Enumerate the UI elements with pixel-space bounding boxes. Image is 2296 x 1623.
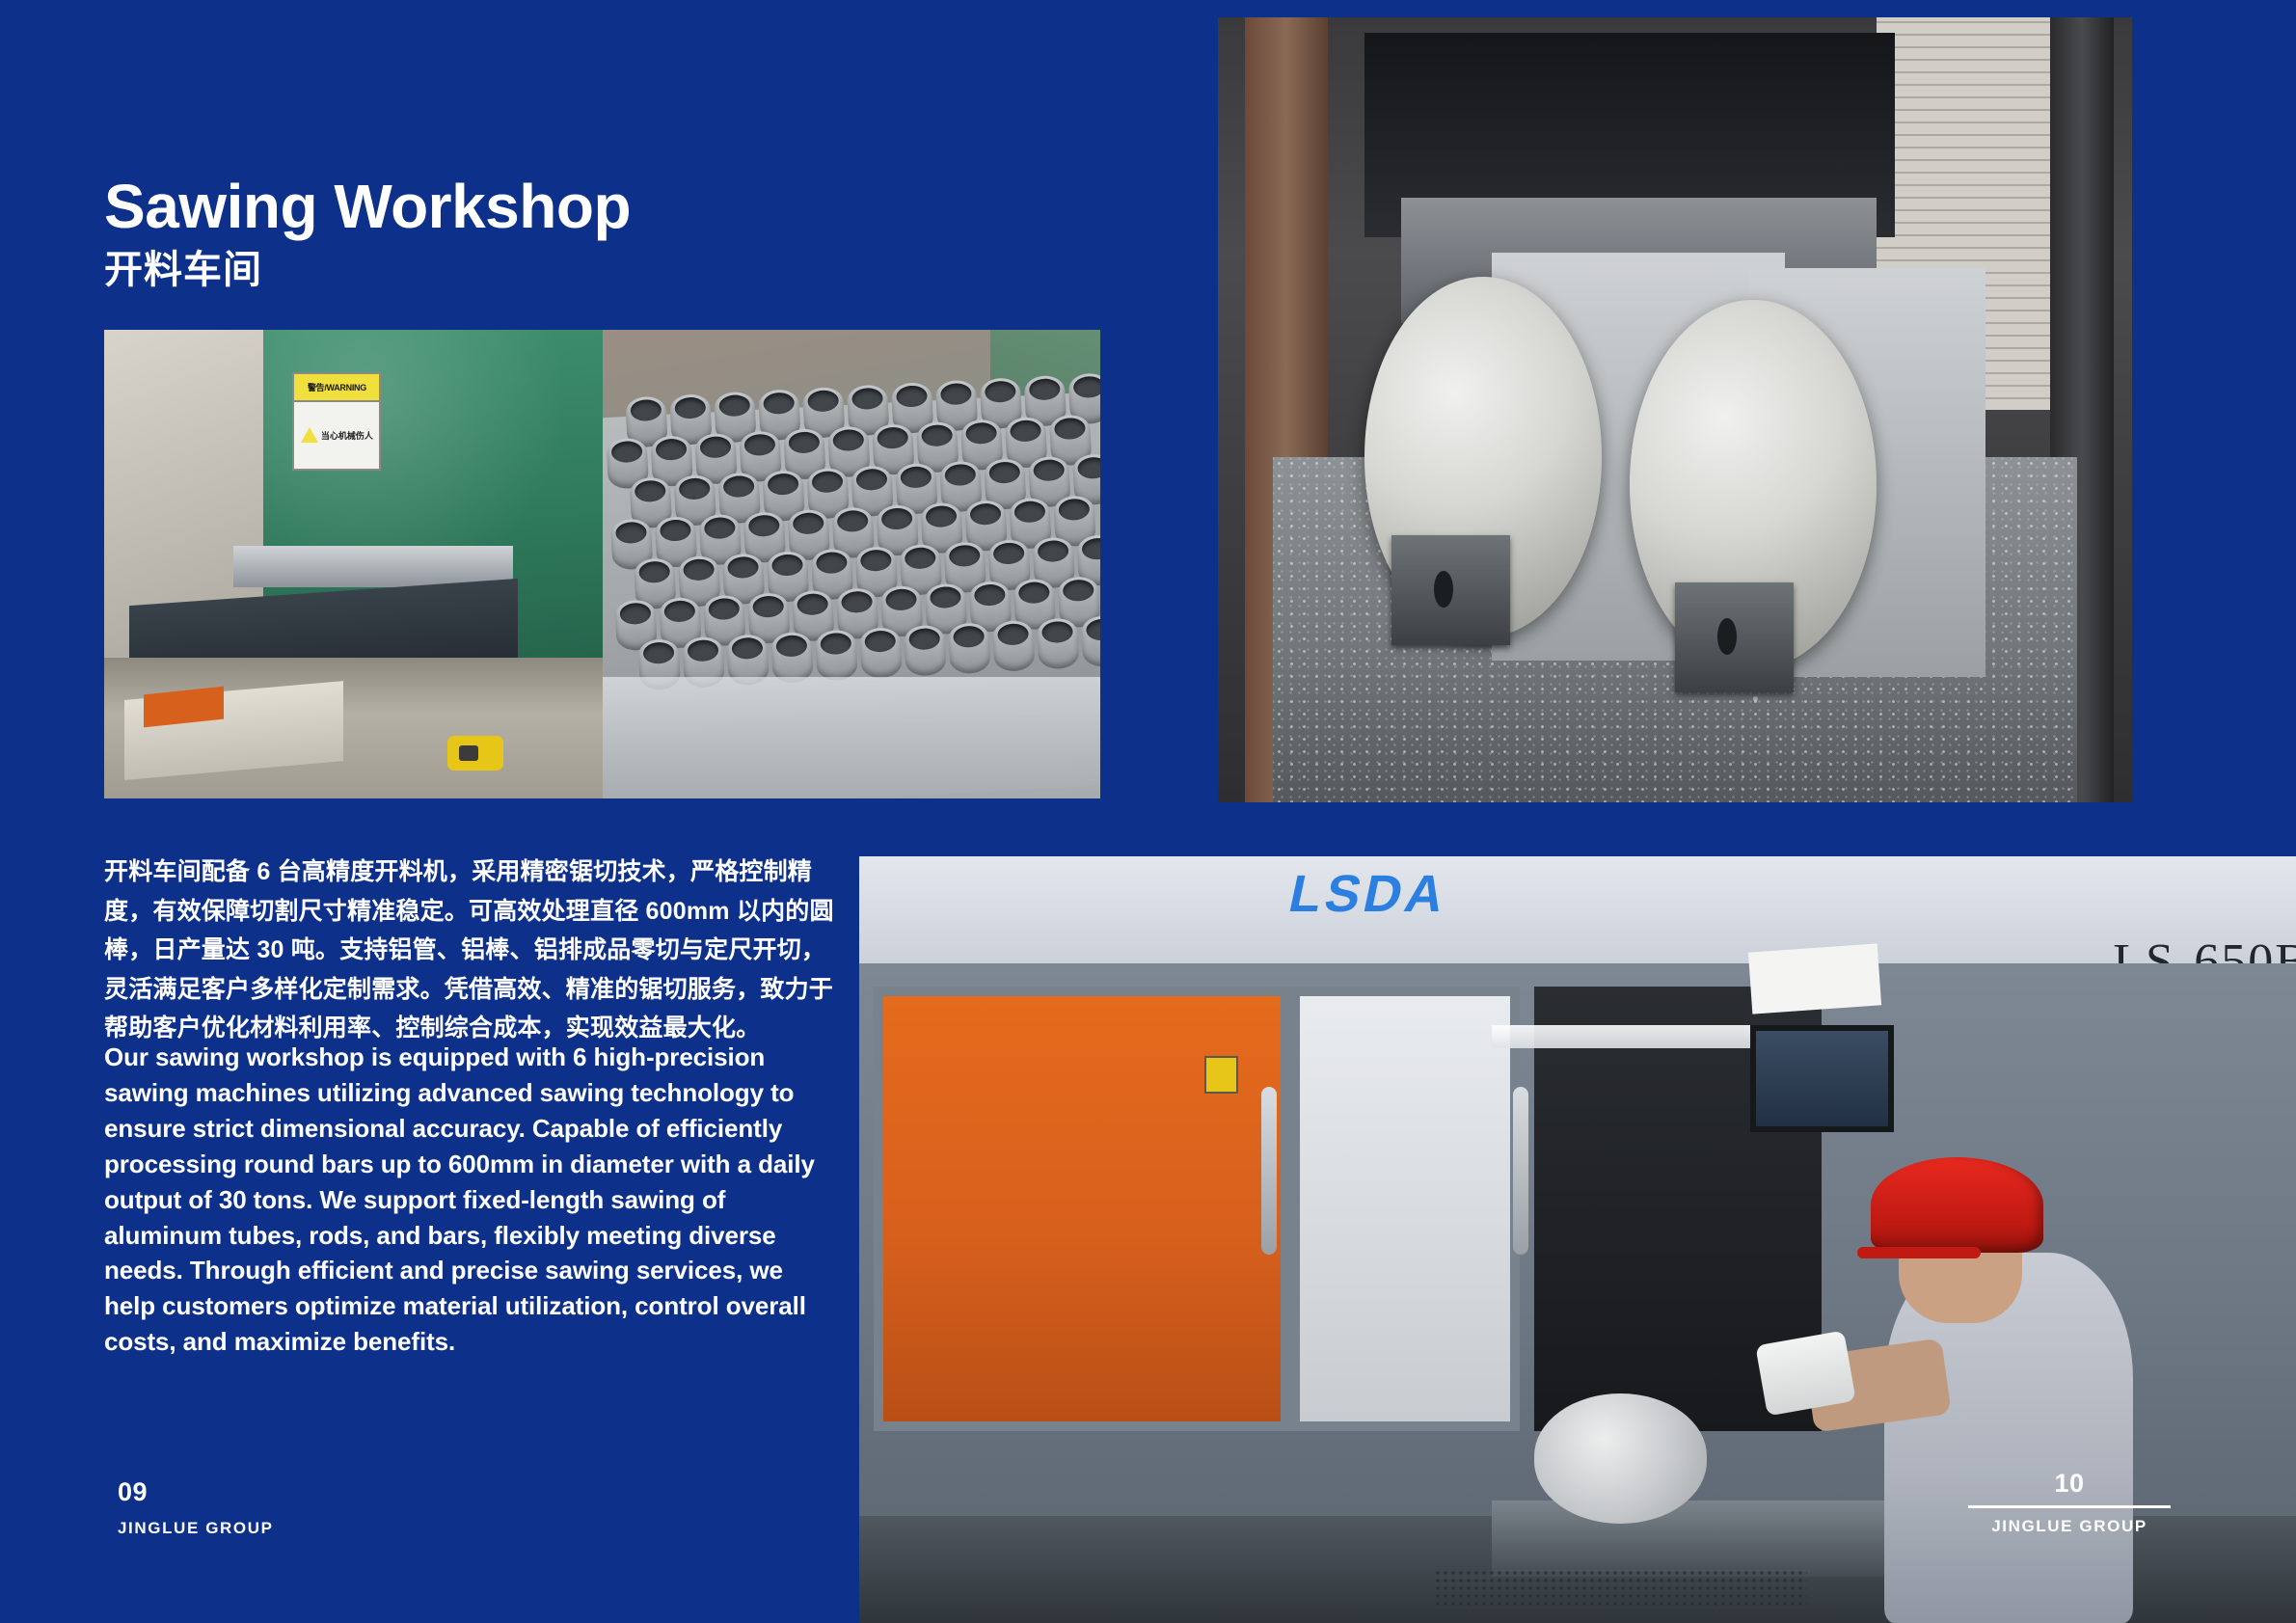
support-block-right — [1675, 582, 1794, 692]
worker — [1836, 1148, 2181, 1623]
title-chinese: 开料车间 — [104, 251, 631, 289]
door-handle-left — [1261, 1087, 1277, 1256]
lsda-logo-text: LSDA — [1283, 864, 1453, 924]
photo-round-bars — [1218, 17, 2132, 802]
aluminum-tube — [904, 625, 947, 677]
posted-document — [1748, 944, 1881, 1014]
machine-door-panel — [1290, 987, 1520, 1431]
photo-round-bars-scene — [1218, 17, 2132, 802]
footer-right: 10 JINGLUE GROUP — [1968, 1469, 2171, 1536]
pallet-shrink-wrap — [603, 677, 1100, 798]
aluminum-tube — [859, 627, 903, 679]
footer-left: 09 JINGLUE GROUP — [118, 1477, 274, 1538]
door-latch — [1204, 1056, 1239, 1095]
chip-debris — [1434, 1569, 1807, 1608]
aluminum-tube — [948, 623, 991, 675]
page-number-right: 10 — [1968, 1469, 2171, 1499]
photo-saw-machine-scene: 警告/WARNING 当心机械伤人 — [104, 330, 603, 798]
machine-door-orange — [874, 987, 1290, 1431]
brochure-spread: Sawing Workshop 开料车间 警告/WARNING 当心机械伤人 — [0, 0, 2296, 1623]
title-english: Sawing Workshop — [104, 176, 631, 237]
warning-sign-body: 当心机械伤人 — [294, 402, 379, 469]
photo-cut-tubes-scene — [603, 330, 1100, 798]
page-title: Sawing Workshop 开料车间 — [104, 176, 631, 289]
safety-helmet — [1871, 1157, 2043, 1253]
photo-saw-machine: 警告/WARNING 当心机械伤人 — [104, 330, 603, 798]
aluminum-tube — [1037, 618, 1080, 670]
body-text-chinese: 开料车间配备 6 台高精度开料机，采用精密锯切技术，严格控制精度，有效保障切割尺… — [104, 852, 837, 1048]
support-block-left — [1391, 535, 1510, 645]
warning-triangle-icon — [301, 427, 318, 443]
door-handle-right — [1513, 1087, 1528, 1256]
machine-top-panel — [859, 856, 2296, 963]
aluminum-tube — [992, 620, 1036, 672]
aluminum-tube — [815, 630, 858, 682]
warning-sign-header: 警告/WARNING — [294, 374, 379, 402]
lsda-logo: LSDA — [1290, 864, 1447, 924]
body-text-english: Our sawing workshop is equipped with 6 h… — [104, 1040, 837, 1360]
brand-label-right: JINGLUE GROUP — [1968, 1517, 2171, 1536]
workpiece-billet — [1534, 1393, 1707, 1524]
aluminum-tube — [1081, 615, 1100, 667]
control-screen — [1750, 1025, 1894, 1132]
page-number-left: 09 — [118, 1477, 274, 1507]
brand-label-left: JINGLUE GROUP — [118, 1519, 274, 1538]
tape-measure — [447, 736, 503, 771]
photo-cut-tubes — [603, 330, 1100, 798]
warning-sign: 警告/WARNING 当心机械伤人 — [292, 372, 381, 471]
warning-sign-text: 当心机械伤人 — [321, 429, 373, 442]
footer-divider — [1968, 1505, 2171, 1508]
